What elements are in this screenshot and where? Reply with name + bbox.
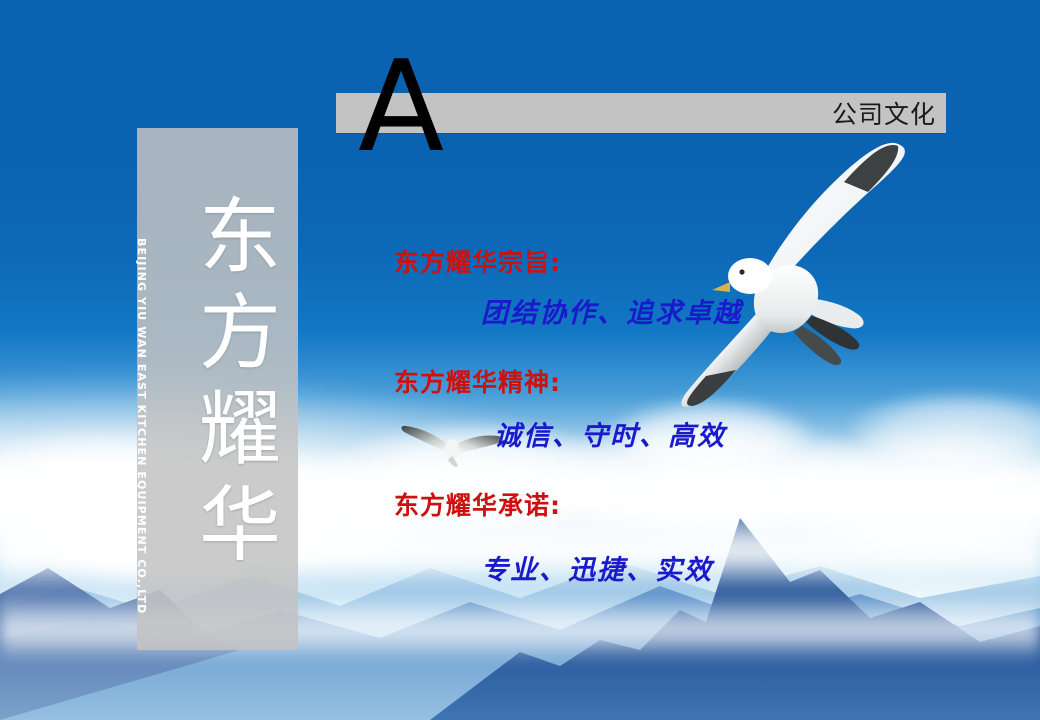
statement-value-promise: 专业、迅捷、实效 — [481, 548, 713, 587]
statement-label-purpose: 东方耀华宗旨: — [394, 243, 561, 279]
slide-canvas: BEIJING YIU WAN EAST KITCHEN EQUIPMENT C… — [0, 0, 1040, 720]
statement-label-spirit: 东方耀华精神: — [394, 363, 561, 399]
statement-label-promise: 东方耀华承诺: — [394, 486, 561, 522]
statement-value-purpose: 团结协作、追求卓越 — [481, 291, 742, 330]
statements-group: 东方耀华宗旨: 团结协作、追求卓越 东方耀华精神: 诚信、守时、高效 东方耀华承… — [0, 0, 1040, 720]
statement-value-spirit: 诚信、守时、高效 — [494, 414, 726, 453]
